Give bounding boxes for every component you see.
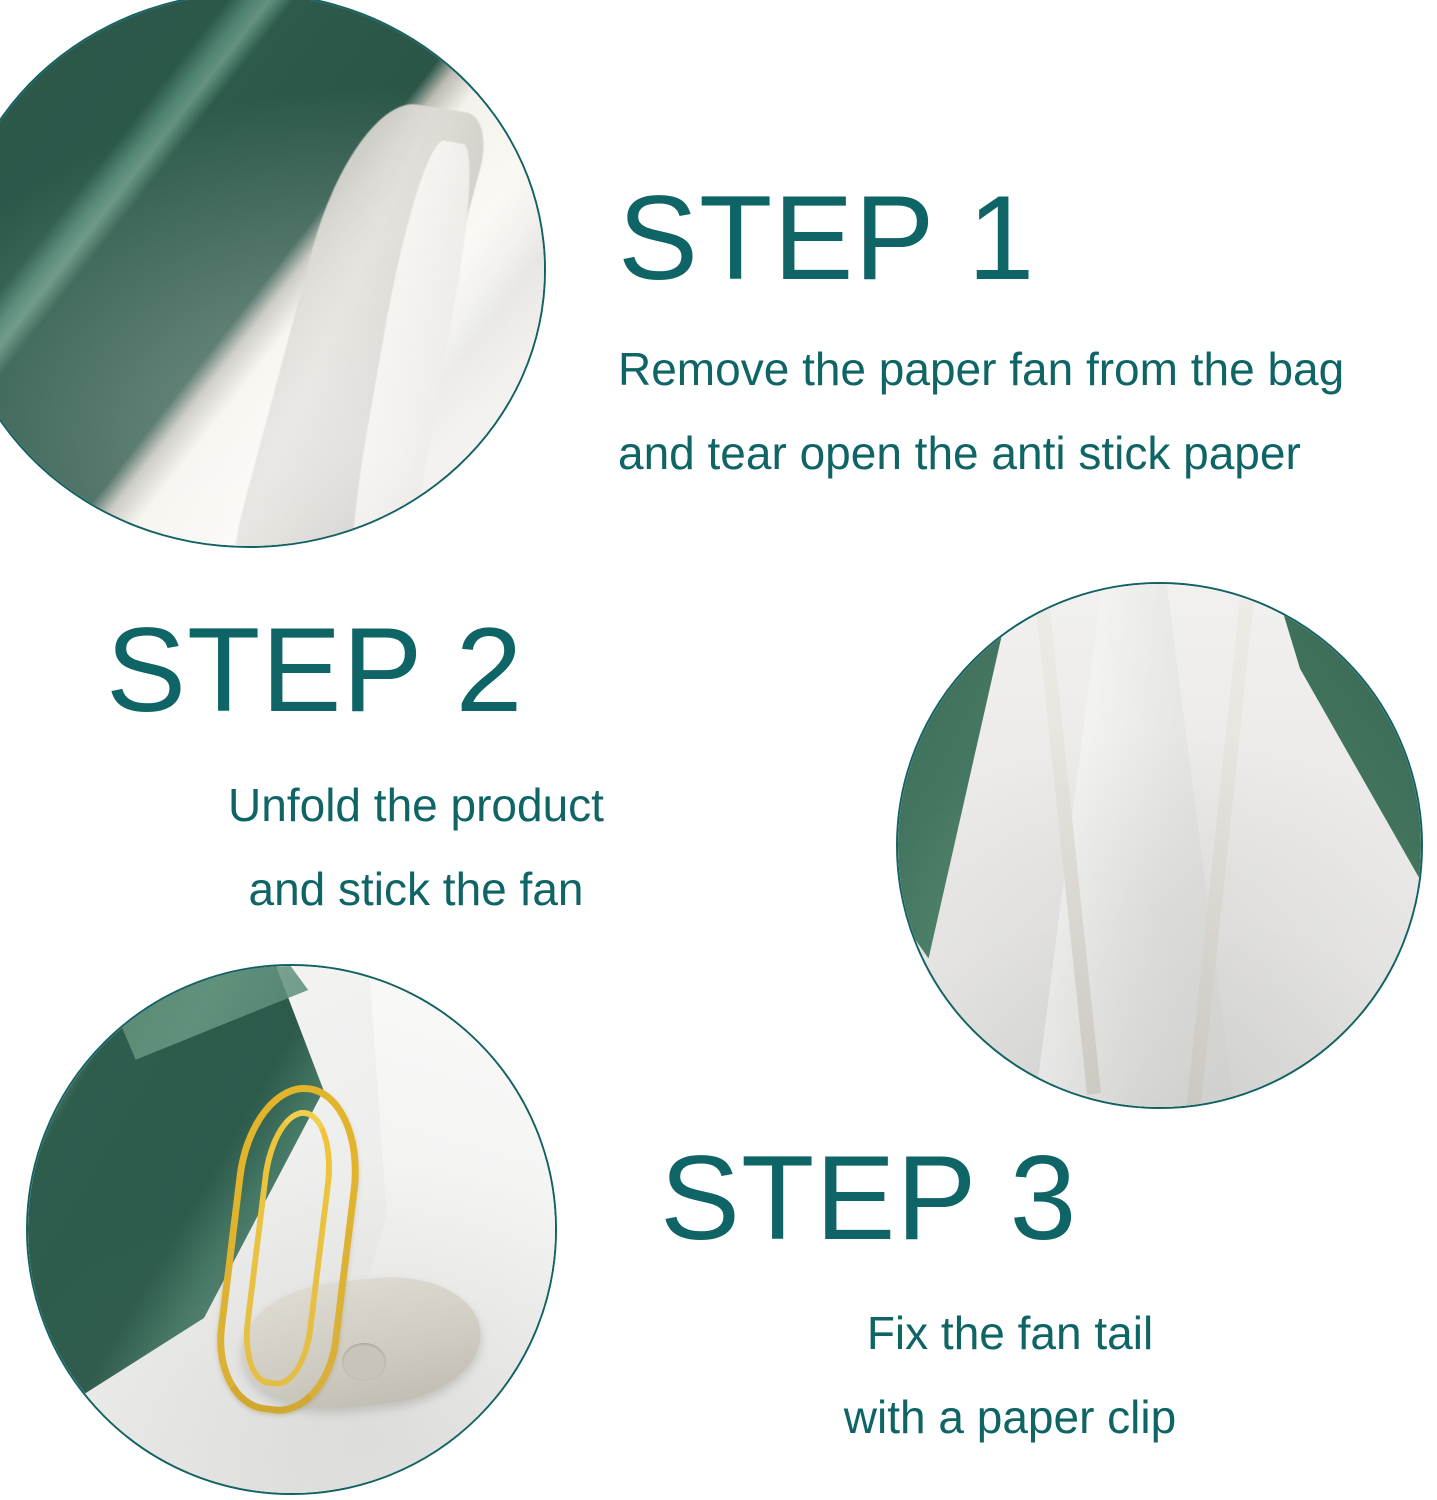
step-1-text-block: STEP 1 Remove the paper fan from the bag… [618, 178, 1344, 495]
unfolded-fan-photo [896, 582, 1423, 1109]
step-1-description: Remove the paper fan from the bag and te… [618, 328, 1344, 495]
step-3-text-block: STEP 3 Fix the fan tail with a paper cli… [660, 1138, 1360, 1459]
instruction-infographic: STEP 1 Remove the paper fan from the bag… [0, 0, 1437, 1500]
step-2-line-2: and stick the fan [106, 848, 726, 932]
photo-shadow-overlay [26, 964, 557, 1495]
step-2-description: Unfold the product and stick the fan [106, 764, 726, 931]
step-3-line-1: Fix the fan tail [660, 1292, 1360, 1376]
step-2-line-1: Unfold the product [106, 764, 726, 848]
paper-fan-in-bag-photo [0, 0, 546, 548]
step-2-text-block: STEP 2 Unfold the product and stick the … [106, 610, 726, 931]
step-1-heading: STEP 1 [618, 178, 1344, 298]
photo-inner-step1 [0, 0, 546, 548]
step-3-line-2: with a paper clip [660, 1376, 1360, 1460]
step-3-description: Fix the fan tail with a paper clip [660, 1292, 1360, 1459]
step-2-heading: STEP 2 [106, 610, 726, 730]
photo-gloss-overlay [0, 0, 546, 548]
photo-shadow-overlay [896, 582, 1423, 1109]
paper-clip-fixing-photo [26, 964, 557, 1495]
step-1-line-2: and tear open the anti stick paper [618, 412, 1344, 496]
photo-inner-step2 [896, 582, 1423, 1109]
photo-inner-step3 [26, 964, 557, 1495]
step-1-line-1: Remove the paper fan from the bag [618, 328, 1344, 412]
step-3-heading: STEP 3 [660, 1138, 1360, 1258]
